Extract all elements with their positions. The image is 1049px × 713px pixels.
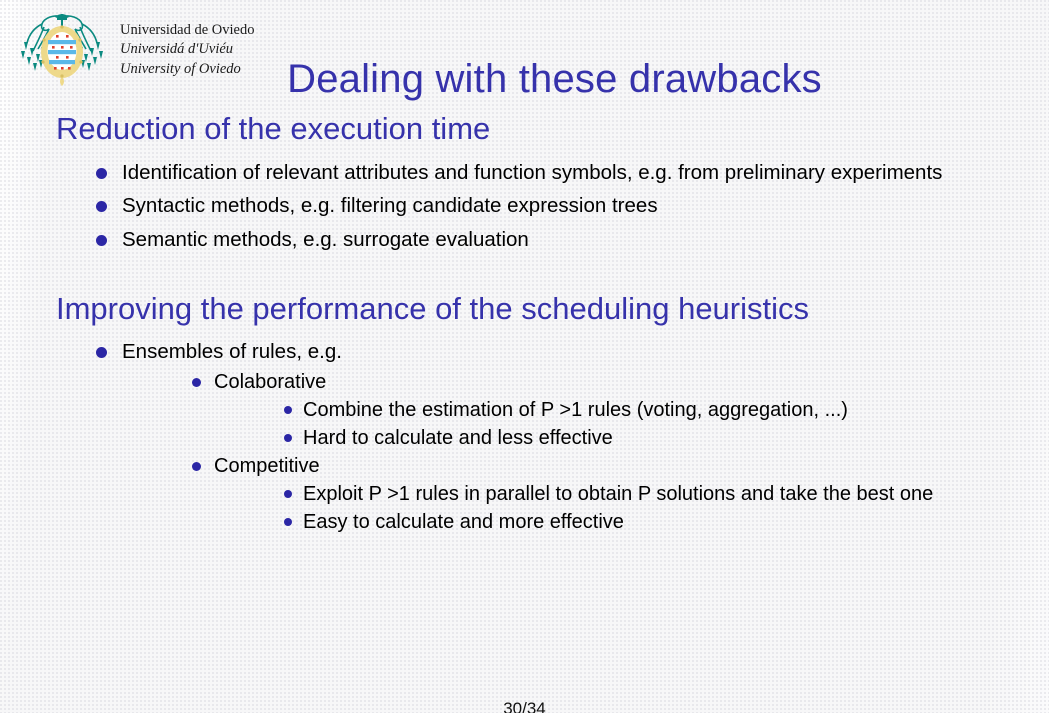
section-heading-reduction: Reduction of the execution time: [56, 112, 1049, 147]
bullet-point-icon: [96, 347, 107, 358]
bullet-point-icon: [284, 490, 292, 498]
list-item-label: Colaborative: [214, 369, 1049, 395]
list-item: Colaborative Combine the estimation of P…: [184, 369, 1049, 451]
list-item: Easy to calculate and more effective: [276, 509, 1049, 535]
bullet-list-level2: Colaborative Combine the estimation of P…: [184, 369, 1049, 535]
bullet-point-icon: [192, 378, 201, 387]
list-item-label: Competitive: [214, 453, 1049, 479]
bullet-point-icon: [192, 462, 201, 471]
list-item-label: Easy to calculate and more effective: [303, 509, 1033, 535]
bullet-list-level3-competitive: Exploit P >1 rules in parallel to obtain…: [276, 481, 1049, 535]
bullet-list-level3-colaborative: Combine the estimation of P >1 rules (vo…: [276, 397, 1049, 451]
bullet-point-icon: [96, 201, 107, 212]
list-item: Ensembles of rules, e.g. Colaborative Co…: [88, 339, 1049, 535]
list-item: Semantic methods, e.g. surrogate evaluat…: [88, 227, 1049, 254]
list-item-label: Semantic methods, e.g. surrogate evaluat…: [122, 227, 1002, 254]
bullet-point-icon: [96, 168, 107, 179]
list-item: Hard to calculate and less effective: [276, 425, 1049, 451]
presentation-slide: Universidad de Oviedo Universidá d'Uviéu…: [0, 0, 1049, 713]
list-item: Syntactic methods, e.g. filtering candid…: [88, 193, 1049, 220]
list-item: Competitive Exploit P >1 rules in parall…: [184, 453, 1049, 535]
list-item-label: Combine the estimation of P >1 rules (vo…: [303, 397, 1033, 423]
list-item-label: Identification of relevant attributes an…: [122, 160, 1002, 187]
list-item: Exploit P >1 rules in parallel to obtain…: [276, 481, 1049, 507]
list-item-label: Syntactic methods, e.g. filtering candid…: [122, 193, 1002, 220]
list-item-label: Exploit P >1 rules in parallel to obtain…: [303, 481, 1033, 507]
list-item: Identification of relevant attributes an…: [88, 160, 1049, 187]
list-item-label: Ensembles of rules, e.g.: [122, 339, 1002, 366]
bullet-list-level1-reduction: Identification of relevant attributes an…: [88, 160, 1049, 254]
bullet-point-icon: [284, 518, 292, 526]
slide-body: Reduction of the execution time Identifi…: [0, 112, 1049, 542]
section-heading-improving: Improving the performance of the schedul…: [56, 292, 1049, 327]
logo-line-spanish: Universidad de Oviedo: [120, 21, 255, 40]
slide-title: Dealing with these drawbacks: [0, 57, 1049, 102]
list-item-label: Hard to calculate and less effective: [303, 425, 1033, 451]
bullet-list-level1-improving: Ensembles of rules, e.g. Colaborative Co…: [88, 339, 1049, 535]
bullet-point-icon: [284, 406, 292, 414]
bullet-point-icon: [284, 434, 292, 442]
page-number: 30/34: [0, 699, 1049, 713]
bullet-point-icon: [96, 235, 107, 246]
list-item: Combine the estimation of P >1 rules (vo…: [276, 397, 1049, 423]
